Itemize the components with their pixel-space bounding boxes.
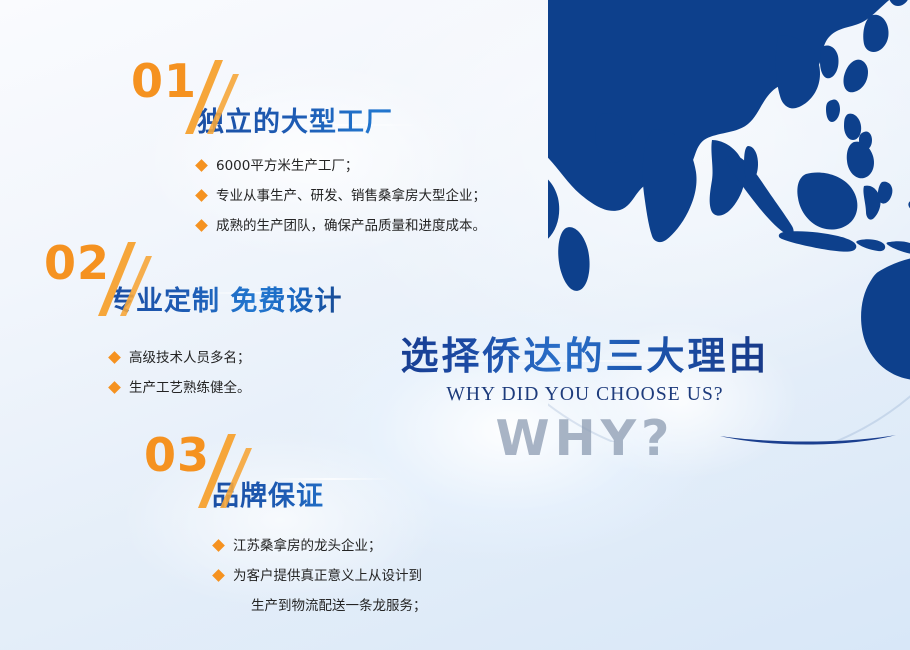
reason-bullet-list: 6000平方米生产工厂； 专业从事生产、研发、销售桑拿房大型企业； 成熟的生产团… [197, 151, 486, 241]
bullet-text: 江苏桑拿房的龙头企业； [233, 538, 382, 554]
bullet-text: 生产工艺熟练健全。 [129, 380, 251, 396]
diamond-bullet-icon [195, 159, 208, 172]
reason-number: 03 [144, 432, 210, 478]
watermark-text: WHY? [375, 412, 795, 466]
diamond-bullet-icon [212, 569, 225, 582]
bullet-text: 高级技术人员多名； [129, 350, 251, 366]
list-item: 6000平方米生产工厂； [197, 151, 486, 181]
headline-block: 选择侨达的三大理由 WHY DID YOU CHOOSE US? WHY? [375, 332, 795, 466]
diamond-bullet-icon [212, 539, 225, 552]
diamond-bullet-icon [195, 189, 208, 202]
reason-block-02: 02 专业定制 免费设计 高级技术人员多名； 生产工艺熟练健全。 [44, 240, 342, 403]
diamond-bullet-icon [108, 351, 121, 364]
bullet-text: 为客户提供真正意义上从设计到 [233, 568, 422, 584]
reason-block-01: 01 独立的大型工厂 6000平方米生产工厂； 专业从事生产、研发、销售桑拿房大… [131, 58, 486, 241]
diamond-bullet-icon [108, 381, 121, 394]
list-item: 生产到物流配送一条龙服务； [214, 591, 427, 621]
bullet-text: 生产到物流配送一条龙服务； [251, 598, 427, 614]
page-subtitle: WHY DID YOU CHOOSE US? [375, 384, 795, 406]
list-item: 高级技术人员多名； [110, 343, 342, 373]
bullet-text: 6000平方米生产工厂； [216, 158, 358, 174]
list-item: 江苏桑拿房的龙头企业； [214, 531, 427, 561]
page-title: 选择侨达的三大理由 [375, 332, 795, 380]
diamond-bullet-icon [195, 219, 208, 232]
promo-banner: 01 独立的大型工厂 6000平方米生产工厂； 专业从事生产、研发、销售桑拿房大… [0, 0, 910, 650]
list-item: 成熟的生产团队，确保产品质量和进度成本。 [197, 211, 486, 241]
list-item: 专业从事生产、研发、销售桑拿房大型企业； [197, 181, 486, 211]
list-item: 为客户提供真正意义上从设计到 [214, 561, 427, 591]
bullet-text: 专业从事生产、研发、销售桑拿房大型企业； [216, 188, 486, 204]
bullet-text: 成熟的生产团队，确保产品质量和进度成本。 [216, 218, 486, 234]
reason-number: 01 [131, 58, 197, 104]
reason-number: 02 [44, 240, 110, 286]
reason-bullet-list: 江苏桑拿房的龙头企业； 为客户提供真正意义上从设计到 生产到物流配送一条龙服务； [214, 531, 427, 621]
list-item: 生产工艺熟练健全。 [110, 373, 342, 403]
reason-bullet-list: 高级技术人员多名； 生产工艺熟练健全。 [110, 343, 342, 403]
